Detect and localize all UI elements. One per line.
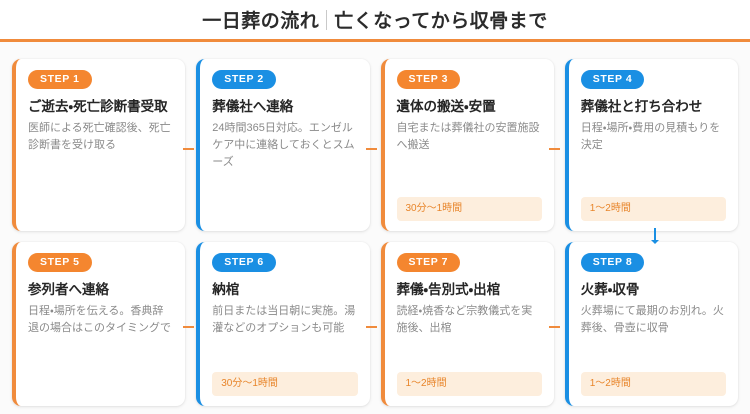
step-description: 日程・場所を伝える。香典辞退の場合はこのタイミングで: [28, 303, 173, 382]
step-card[interactable]: STEP 1 ご逝去・死亡診断書受取 医師による死亡確認後、死亡診断書を受け取る: [12, 59, 185, 231]
step-badge: STEP 5: [28, 253, 92, 272]
step-description: 日程・場所・費用の見積もりを決定: [581, 120, 726, 197]
step-card[interactable]: STEP 5 参列者へ連絡 日程・場所を伝える。香典辞退の場合はこのタイミングで: [12, 242, 185, 406]
page-title-main: 一日葬の流れ: [202, 6, 319, 33]
page-header: 一日葬の流れ 亡くなってから収骨まで: [0, 0, 750, 42]
step-description: 火葬場にて最期のお別れ。火葬後、骨壺に収骨: [581, 303, 726, 372]
title-divider: [326, 10, 327, 30]
connector-step3-step4: [549, 148, 560, 150]
step-badge: STEP 4: [581, 70, 645, 89]
step-title: 葬儀社へ連絡: [212, 98, 357, 116]
step-duration-chip: 1〜2時間: [581, 372, 726, 396]
step-duration-chip: 30分〜1時間: [212, 372, 357, 396]
step-card[interactable]: STEP 7 葬儀・告別式・出棺 読経・焼香など宗教儀式を実施後、出棺 1〜2時…: [381, 242, 554, 406]
step-title: 火葬・収骨: [581, 281, 726, 299]
step-badge: STEP 1: [28, 70, 92, 89]
step-title: ご逝去・死亡診断書受取: [28, 98, 173, 116]
page-title: 一日葬の流れ 亡くなってから収骨まで: [202, 6, 548, 33]
connector-step7-step8: [549, 326, 560, 328]
connector-step5-step6: [183, 326, 194, 328]
step-duration-chip: 30分〜1時間: [397, 197, 542, 221]
step-description: 自宅または葬儀社の安置施設へ搬送: [397, 120, 542, 197]
step-description: 医師による死亡確認後、死亡診断書を受け取る: [28, 120, 173, 207]
step-card[interactable]: STEP 2 葬儀社へ連絡 24時間365日対応。エンゼルケア中に連絡しておくと…: [196, 59, 369, 231]
step-description: 読経・焼香など宗教儀式を実施後、出棺: [397, 303, 542, 372]
step-title: 納棺: [212, 281, 357, 299]
step-title: 参列者へ連絡: [28, 281, 173, 299]
step-description: 前日または当日朝に実施。湯灌などのオプションも可能: [212, 303, 357, 372]
step-badge: STEP 6: [212, 253, 276, 272]
connector-step4-step5-arrow-icon: [654, 228, 656, 241]
page-title-sub: 亡くなってから収骨まで: [334, 6, 548, 33]
step-duration-chip: 1〜2時間: [397, 372, 542, 396]
step-card[interactable]: STEP 3 遺体の搬送・安置 自宅または葬儀社の安置施設へ搬送 30分〜1時間: [381, 59, 554, 231]
step-badge: STEP 8: [581, 253, 645, 272]
steps-board: STEP 1 ご逝去・死亡診断書受取 医師による死亡確認後、死亡診断書を受け取る…: [0, 42, 750, 414]
step-title: 葬儀・告別式・出棺: [397, 281, 542, 299]
step-card[interactable]: STEP 8 火葬・収骨 火葬場にて最期のお別れ。火葬後、骨壺に収骨 1〜2時間: [565, 242, 738, 406]
step-badge: STEP 7: [397, 253, 461, 272]
step-title: 葬儀社と打ち合わせ: [581, 98, 726, 116]
step-title: 遺体の搬送・安置: [397, 98, 542, 116]
connector-step2-step3: [366, 148, 377, 150]
step-card[interactable]: STEP 4 葬儀社と打ち合わせ 日程・場所・費用の見積もりを決定 1〜2時間: [565, 59, 738, 231]
step-card[interactable]: STEP 6 納棺 前日または当日朝に実施。湯灌などのオプションも可能 30分〜…: [196, 242, 369, 406]
step-badge: STEP 3: [397, 70, 461, 89]
connector-step1-step2: [183, 148, 194, 150]
step-duration-chip: 1〜2時間: [581, 197, 726, 221]
connector-step6-step7: [366, 326, 377, 328]
step-description: 24時間365日対応。エンゼルケア中に連絡しておくとスムーズ: [212, 120, 357, 207]
step-badge: STEP 2: [212, 70, 276, 89]
